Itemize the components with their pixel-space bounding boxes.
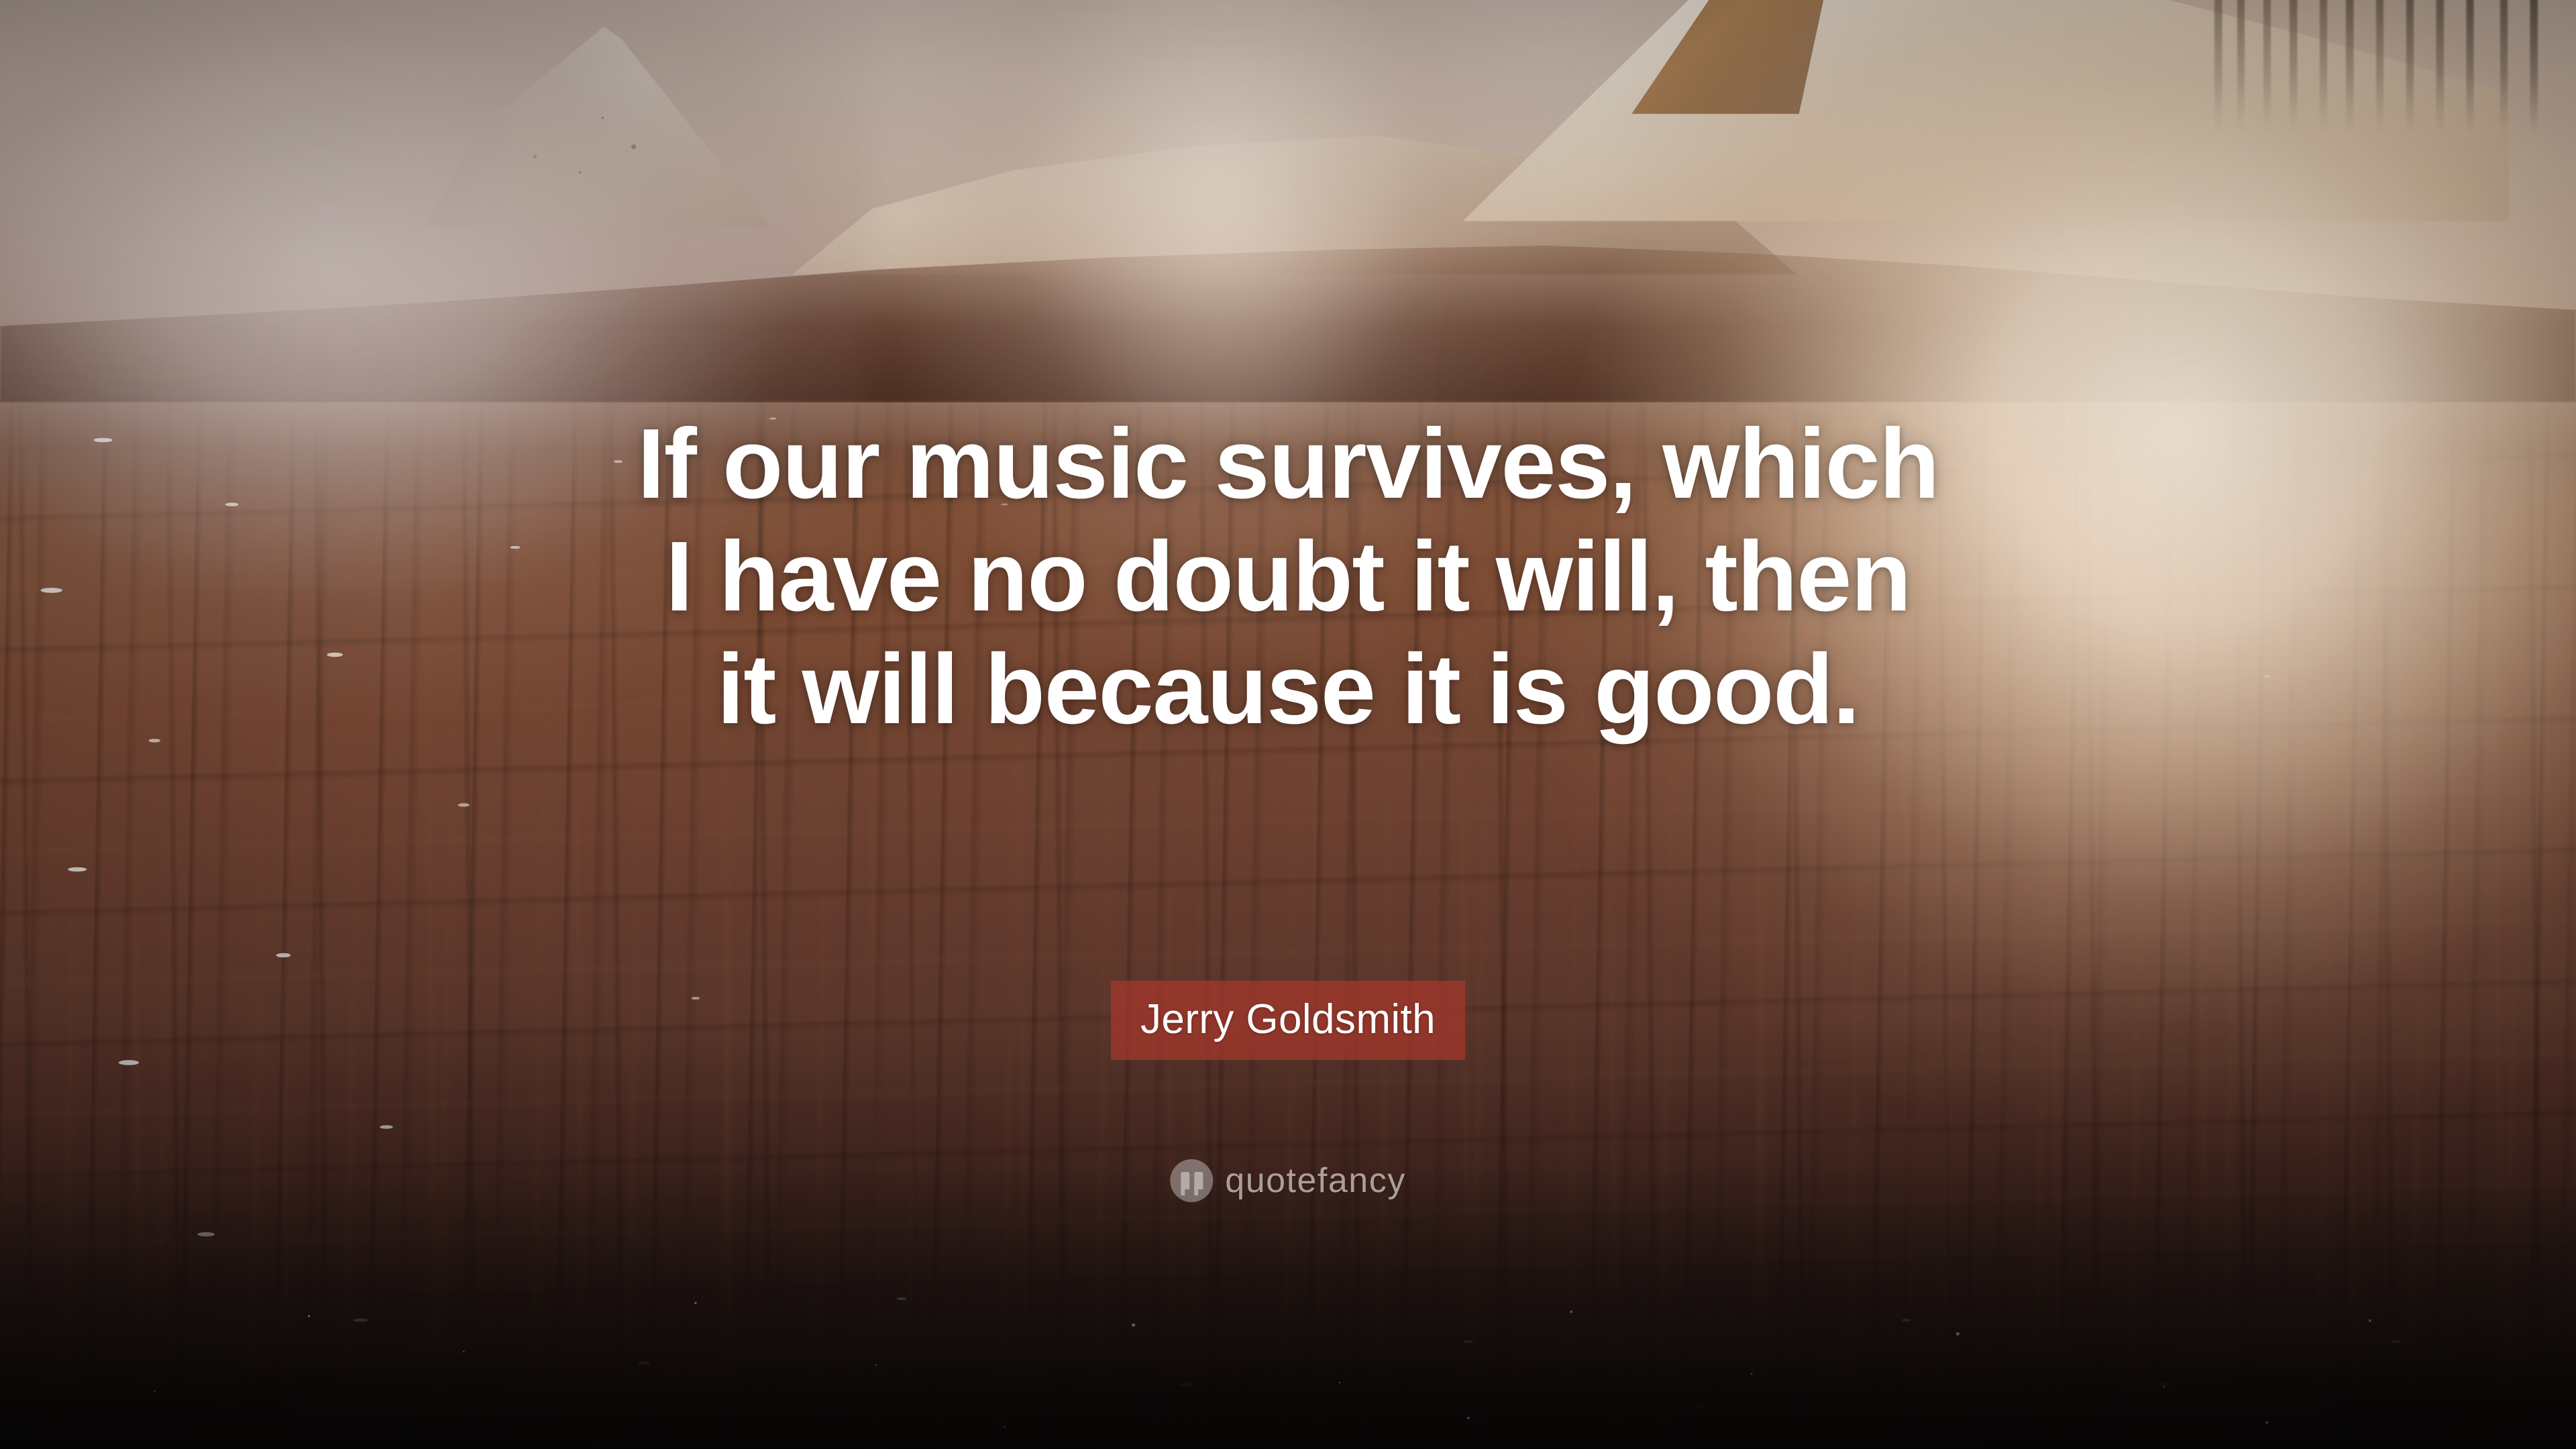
- quotation-mark-icon: [1170, 1159, 1213, 1202]
- watermark-brand-label: quotefancy: [1225, 1162, 1405, 1199]
- poster-content: If our music survives, which I have no d…: [0, 0, 2576, 1449]
- quote-poster: If our music survives, which I have no d…: [0, 0, 2576, 1449]
- author-attribution: Jerry Goldsmith: [1111, 981, 1465, 1060]
- quotefancy-watermark: quotefancy: [1170, 1159, 1405, 1202]
- quote-line-3: it will because it is good.: [402, 633, 2173, 746]
- quote-text: If our music survives, which I have no d…: [402, 408, 2173, 746]
- quote-line-2: I have no doubt it will, then: [402, 521, 2173, 633]
- author-name-badge: Jerry Goldsmith: [1111, 981, 1465, 1060]
- quote-line-1: If our music survives, which: [402, 408, 2173, 521]
